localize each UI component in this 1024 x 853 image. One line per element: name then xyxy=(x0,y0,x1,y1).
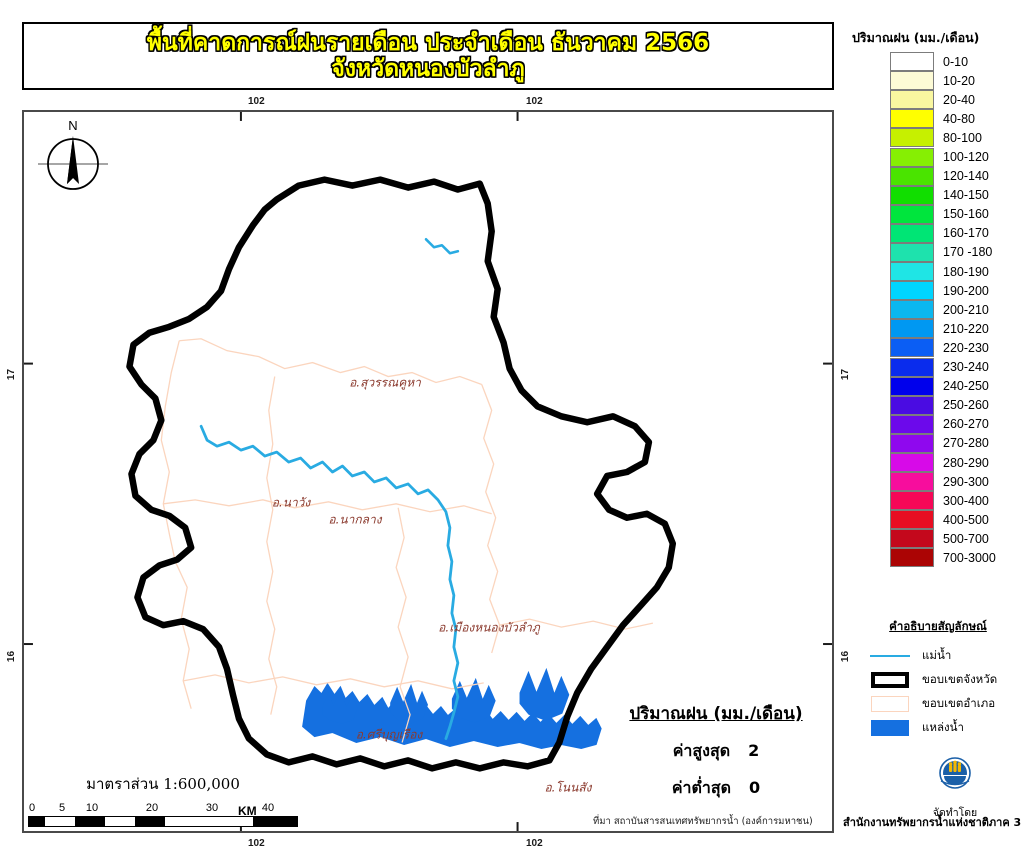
rainfall-max-value: 2 xyxy=(748,741,759,760)
province-boundary xyxy=(129,180,672,769)
legend-row: 290-300 xyxy=(852,472,1024,491)
legend-label: 260-270 xyxy=(943,417,989,431)
rainfall-legend-rows: 0-1010-2020-4040-8080-100100-120120-1401… xyxy=(852,52,1024,568)
symbol-label-river: แม่น้ำ xyxy=(922,647,951,665)
source-attribution: ที่มา สถาบันสารสนเทศทรัพยากรน้ำ (องค์การ… xyxy=(593,814,835,829)
legend-label: 190-200 xyxy=(943,284,989,298)
rainfall-max-row: ค่าสูงสุด 2 xyxy=(598,739,834,764)
symbol-legend: คำอธิบายสัญลักษณ์ แม่น้ำ ขอบเขตจังหวัด ข… xyxy=(852,618,1024,740)
scale-tick-labels: 0 5 10 20 30 40 xyxy=(28,802,298,816)
legend-swatch xyxy=(890,224,934,243)
symbol-row-water: แหล่งน้ำ xyxy=(870,716,1024,740)
legend-swatch xyxy=(890,300,934,319)
legend-row: 250-260 xyxy=(852,396,1024,415)
map-title-box: พื้นที่คาดการณ์ฝนรายเดือน ประจำเดือน ธัน… xyxy=(22,22,834,90)
scale-tick-0: 0 xyxy=(29,802,35,814)
rainfall-min-value: 0 xyxy=(749,778,760,797)
legend-label: 220-230 xyxy=(943,341,989,355)
legend-row: 210-220 xyxy=(852,319,1024,338)
scale-ratio-text: มาตราส่วน 1:600,000 xyxy=(28,772,298,796)
district-label-siboonrueang: อ.ศรีบุญเรือง xyxy=(356,726,423,745)
legend-label: 280-290 xyxy=(943,456,989,470)
legend-swatch xyxy=(890,529,934,548)
scale-bar-block: มาตราส่วน 1:600,000 0 5 10 20 30 40 xyxy=(28,772,298,827)
legend-swatch xyxy=(890,205,934,224)
legend-row: 120-140 xyxy=(852,167,1024,186)
legend-row: 240-250 xyxy=(852,377,1024,396)
legend-label: 400-500 xyxy=(943,513,989,527)
district-label-nawang: อ.นาวัง xyxy=(272,494,311,513)
water-body-icon xyxy=(870,719,912,737)
legend-swatch xyxy=(890,548,934,567)
legend-swatch xyxy=(890,434,934,453)
legend-label: 250-260 xyxy=(943,398,989,412)
legend-swatch xyxy=(890,243,934,262)
legend-swatch xyxy=(890,377,934,396)
legend-row: 0-10 xyxy=(852,52,1024,71)
legend-row: 400-500 xyxy=(852,510,1024,529)
scale-tick-40: 40 xyxy=(262,802,274,814)
legend-row: 140-150 xyxy=(852,186,1024,205)
legend-label: 20-40 xyxy=(943,93,975,107)
credit-label: จัดทำโดย xyxy=(895,804,1015,821)
legend-label: 80-100 xyxy=(943,131,982,145)
legend-swatch xyxy=(890,491,934,510)
legend-row: 100-120 xyxy=(852,147,1024,166)
rainfall-min-row: ค่าต่ำสุด 0 xyxy=(598,776,834,801)
symbol-row-province: ขอบเขตจังหวัด xyxy=(870,668,1024,692)
symbol-label-province: ขอบเขตจังหวัด xyxy=(922,671,997,689)
scale-tick-5: 5 xyxy=(59,802,65,814)
legend-label: 210-220 xyxy=(943,322,989,336)
page-title-line-1: พื้นที่คาดการณ์ฝนรายเดือน ประจำเดือน ธัน… xyxy=(147,30,709,56)
lat-tick-left-16: 16 xyxy=(6,651,17,662)
legend-swatch xyxy=(890,262,934,281)
page-title-line-2: จังหวัดหนองบัวลำภู xyxy=(331,56,524,82)
legend-label: 150-160 xyxy=(943,207,989,221)
agency-emblem-icon xyxy=(933,753,977,797)
rainfall-value-title: ปริมาณฝน (มม./เดือน) xyxy=(598,700,834,727)
lon-tick-bottom-left: 102 xyxy=(248,838,265,849)
legend-row: 160-170 xyxy=(852,224,1024,243)
legend-label: 100-120 xyxy=(943,150,989,164)
river-line-icon xyxy=(870,647,912,665)
legend-swatch xyxy=(890,186,934,205)
legend-swatch xyxy=(890,90,934,109)
district-boundaries xyxy=(161,339,653,743)
legend-row: 230-240 xyxy=(852,358,1024,377)
lon-tick-top-left: 102 xyxy=(248,96,265,107)
scale-unit-label: KM xyxy=(238,804,257,818)
legend-row: 80-100 xyxy=(852,128,1024,147)
legend-swatch xyxy=(890,128,934,147)
legend-label: 40-80 xyxy=(943,112,975,126)
scale-tick-10: 10 xyxy=(86,802,98,814)
legend-row: 500-700 xyxy=(852,529,1024,548)
legend-swatch xyxy=(890,453,934,472)
province-boundary-icon xyxy=(870,671,912,689)
legend-row: 260-270 xyxy=(852,415,1024,434)
legend-swatch xyxy=(890,71,934,90)
lat-tick-right-16: 16 xyxy=(840,651,851,662)
legend-row: 170 -180 xyxy=(852,243,1024,262)
district-label-mueang-nongbualamphu: อ.เมืองหนองบัวลำภู xyxy=(438,619,540,638)
legend-label: 160-170 xyxy=(943,226,989,240)
district-label-suwannakhuha: อ.สุวรรณคูหา xyxy=(349,374,421,393)
north-arrow: N xyxy=(36,118,110,200)
legend-label: 230-240 xyxy=(943,360,989,374)
legend-swatch xyxy=(890,319,934,338)
north-arrow-label: N xyxy=(68,118,77,133)
legend-row: 20-40 xyxy=(852,90,1024,109)
credit-block: จัดทำโดย xyxy=(895,753,1015,821)
district-label-naklang: อ.นากลาง xyxy=(328,511,381,530)
lon-tick-bottom-right: 102 xyxy=(526,838,543,849)
district-boundary-icon xyxy=(870,695,912,713)
scale-tick-20: 20 xyxy=(146,802,158,814)
legend-swatch xyxy=(890,148,934,167)
legend-row: 280-290 xyxy=(852,453,1024,472)
legend-label: 300-400 xyxy=(943,494,989,508)
lat-tick-right-17: 17 xyxy=(840,369,851,380)
legend-swatch xyxy=(890,396,934,415)
legend-swatch xyxy=(890,109,934,128)
legend-row: 40-80 xyxy=(852,109,1024,128)
legend-label: 240-250 xyxy=(943,379,989,393)
legend-label: 120-140 xyxy=(943,169,989,183)
legend-label: 700-3000 xyxy=(943,551,996,565)
scale-tick-30: 30 xyxy=(206,802,218,814)
lon-tick-top-right: 102 xyxy=(526,96,543,107)
legend-swatch xyxy=(890,415,934,434)
legend-label: 270-280 xyxy=(943,436,989,450)
legend-swatch xyxy=(890,281,934,300)
scale-bar-graphic xyxy=(28,816,298,827)
river-line xyxy=(426,239,458,253)
legend-row: 700-3000 xyxy=(852,548,1024,567)
legend-label: 0-10 xyxy=(943,55,968,69)
legend-label: 200-210 xyxy=(943,303,989,317)
rainfall-legend-title: ปริมาณฝน (มม./เดือน) xyxy=(852,28,1024,48)
legend-row: 200-210 xyxy=(852,300,1024,319)
legend-label: 500-700 xyxy=(943,532,989,546)
rainfall-max-label: ค่าสูงสุด xyxy=(673,739,730,764)
legend-swatch xyxy=(890,472,934,491)
rainfall-value-box: ปริมาณฝน (มม./เดือน) ค่าสูงสุด 2 ค่าต่ำส… xyxy=(598,700,834,801)
lat-tick-left-17: 17 xyxy=(6,369,17,380)
legend-label: 170 -180 xyxy=(943,245,992,259)
legend-row: 150-160 xyxy=(852,205,1024,224)
rainfall-min-label: ค่าต่ำสุด xyxy=(672,776,731,801)
legend-label: 180-190 xyxy=(943,265,989,279)
legend-label: 290-300 xyxy=(943,475,989,489)
symbol-label-district: ขอบเขตอำเภอ xyxy=(922,695,995,713)
legend-row: 270-280 xyxy=(852,434,1024,453)
symbol-label-water: แหล่งน้ำ xyxy=(922,719,964,737)
symbol-legend-title: คำอธิบายสัญลักษณ์ xyxy=(852,618,1024,636)
legend-row: 220-230 xyxy=(852,338,1024,357)
legend-row: 180-190 xyxy=(852,262,1024,281)
legend-row: 300-400 xyxy=(852,491,1024,510)
legend-swatch xyxy=(890,358,934,377)
symbol-row-river: แม่น้ำ xyxy=(870,644,1024,668)
legend-label: 140-150 xyxy=(943,188,989,202)
legend-swatch xyxy=(890,338,934,357)
legend-swatch xyxy=(890,167,934,186)
legend-row: 190-200 xyxy=(852,281,1024,300)
legend-swatch xyxy=(890,52,934,71)
symbol-row-district: ขอบเขตอำเภอ xyxy=(870,692,1024,716)
legend-label: 10-20 xyxy=(943,74,975,88)
district-label-nonsang: อ.โนนสัง xyxy=(544,779,591,798)
legend-swatch xyxy=(890,510,934,529)
rainfall-legend: ปริมาณฝน (มม./เดือน) 0-1010-2020-4040-80… xyxy=(852,28,1024,568)
legend-row: 10-20 xyxy=(852,71,1024,90)
